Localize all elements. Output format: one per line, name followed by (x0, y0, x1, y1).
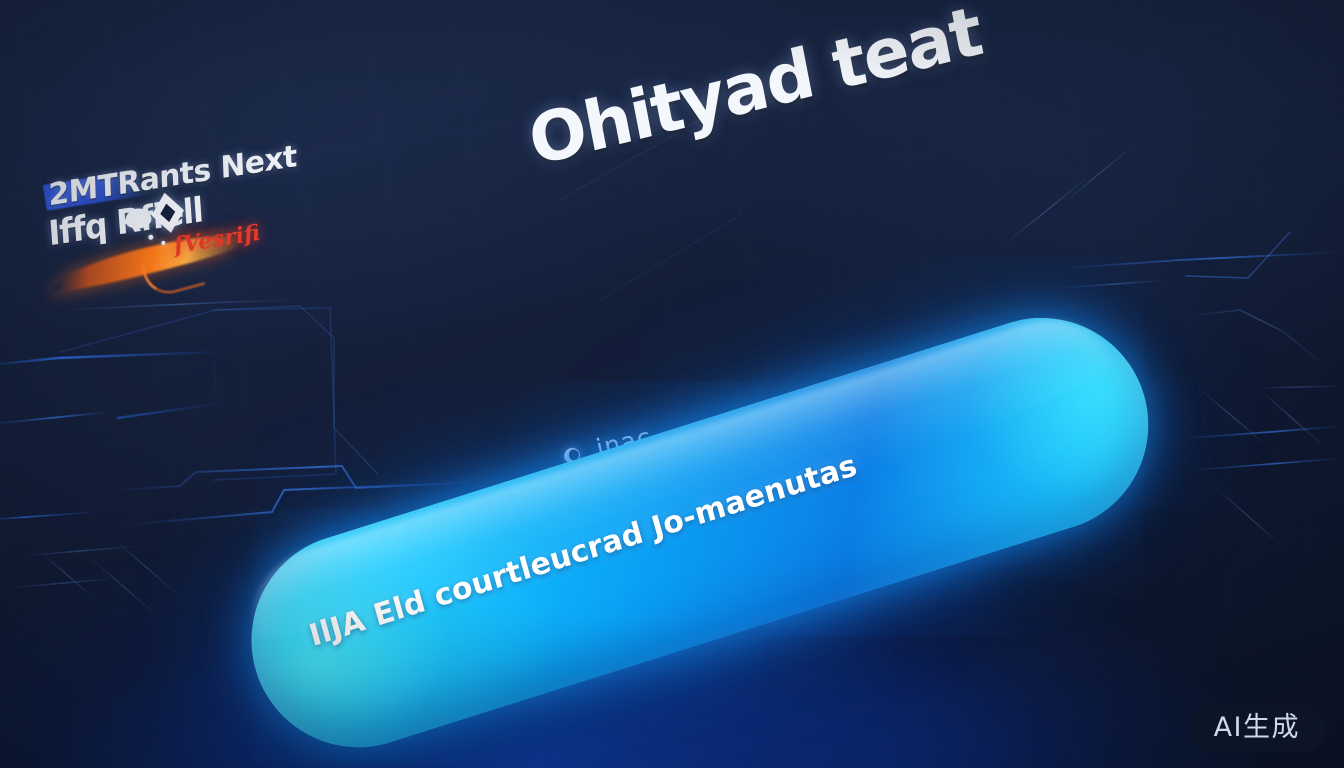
ai-generated-watermark: AI生成 (1188, 705, 1326, 752)
hero-banner: 2MTRants Next Iffq Rfiell fVesrifi Ohity… (0, 0, 1344, 768)
sparkle-dot-icon (148, 234, 154, 240)
capsule-scene: IlJA Eld courtleucrad Jo-maenutas (168, 330, 1228, 730)
